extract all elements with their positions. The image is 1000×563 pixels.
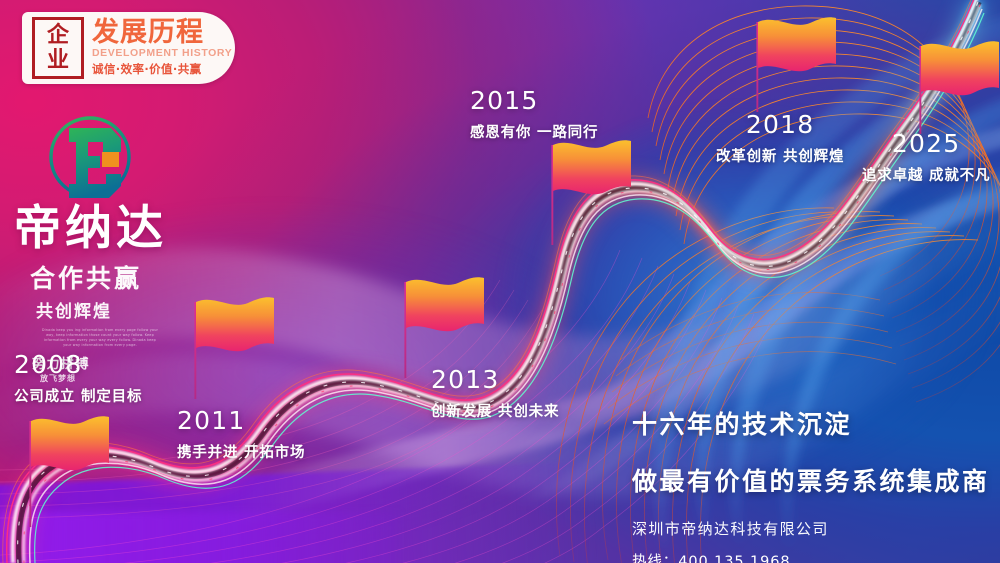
tagline-line-2: 做最有价值的票务系统集成商 <box>632 462 990 498</box>
badge-title-en: DEVELOPMENT HISTORY <box>92 47 232 59</box>
hotline-text[interactable]: 热线：400 135 1968 <box>632 550 990 563</box>
milestone-flag-2025[interactable] <box>919 41 999 134</box>
milestone-year: 2025 <box>862 131 990 156</box>
badge-seal-icon: 企 业 <box>32 17 84 79</box>
milestone-desc: 公司成立 制定目标 <box>14 385 142 406</box>
badge-mark-top: 企 <box>47 23 69 48</box>
dinada-logo[interactable] <box>43 112 137 208</box>
badge-text-block: 发展历程 DEVELOPMENT HISTORY 诚信·效率·价值·共赢 <box>92 19 232 78</box>
milestone-flag-2015[interactable] <box>551 140 631 245</box>
milestone-flag-2008[interactable] <box>29 416 109 527</box>
milestone-label-2025[interactable]: 2025 追求卓越 成就不凡 <box>862 131 990 185</box>
milestone-desc: 携手并进 开拓市场 <box>177 441 305 462</box>
brand-slogan-1: 合作共赢 <box>30 259 274 295</box>
brand-name: 帝纳达 <box>14 205 274 252</box>
milestone-desc: 改革创新 共创辉煌 <box>716 145 844 166</box>
milestone-label-2013[interactable]: 2013 创新发展 共创未来 <box>431 367 559 421</box>
milestone-flag-2018[interactable] <box>756 17 836 112</box>
brand-slogan-2: 共创辉煌 <box>36 297 274 322</box>
company-name: 深圳市帝纳达科技有限公司 <box>632 518 990 539</box>
tagline-block: 十六年的技术沉淀 做最有价值的票务系统集成商 深圳市帝纳达科技有限公司 热线：4… <box>632 405 990 563</box>
development-history-poster: 企 业 发展历程 DEVELOPMENT HISTORY 诚信·效率·价值·共赢 <box>0 0 1000 563</box>
brand-micro-text: Dinada keep you ing information from eve… <box>40 328 160 348</box>
milestone-year: 2018 <box>716 112 844 137</box>
milestone-year: 2008 <box>14 352 142 377</box>
milestone-desc: 感恩有你 一路同行 <box>470 121 598 142</box>
header-badge: 企 业 发展历程 DEVELOPMENT HISTORY 诚信·效率·价值·共赢 <box>22 12 235 84</box>
dinada-circle-logo-icon <box>43 112 137 208</box>
tagline-line-1: 十六年的技术沉淀 <box>632 405 990 441</box>
milestone-year: 2015 <box>470 88 598 113</box>
badge-title-cn: 发展历程 <box>92 19 232 47</box>
milestone-label-2008[interactable]: 2008 公司成立 制定目标 <box>14 352 142 406</box>
milestone-flag-2013[interactable] <box>404 277 484 378</box>
milestone-desc: 追求卓越 成就不凡 <box>862 164 990 185</box>
milestone-year: 2011 <box>177 408 305 433</box>
milestone-label-2018[interactable]: 2018 改革创新 共创辉煌 <box>716 112 844 166</box>
milestone-desc: 创新发展 共创未来 <box>431 400 559 421</box>
milestone-year: 2013 <box>431 367 559 392</box>
badge-subtitle: 诚信·效率·价值·共赢 <box>92 61 232 77</box>
badge-mark-bottom: 业 <box>47 48 69 73</box>
milestone-label-2011[interactable]: 2011 携手并进 开拓市场 <box>177 408 305 462</box>
milestone-label-2015[interactable]: 2015 感恩有你 一路同行 <box>470 88 598 142</box>
